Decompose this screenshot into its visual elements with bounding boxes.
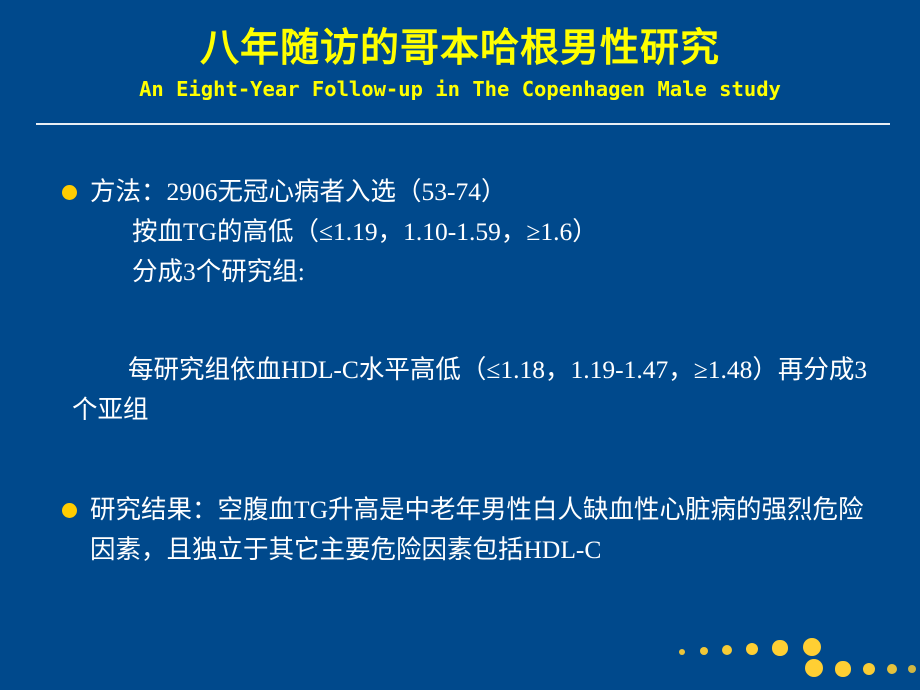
decorative-dot	[772, 640, 787, 655]
method-line-2: 按血TG的高低（≤1.19，1.10-1.59，≥1.6）	[90, 212, 894, 252]
page-title: 八年随访的哥本哈根男性研究	[0, 26, 920, 72]
decorative-dot	[863, 663, 875, 675]
bullet-dot-icon	[62, 185, 77, 200]
decorative-dot-wave	[666, 628, 920, 684]
bullet-item-method: 方法：2906无冠心病者入选（53-74） 按血TG的高低（≤1.19，1.10…	[0, 172, 920, 292]
decorative-dot	[700, 647, 708, 655]
page-subtitle: An Eight-Year Follow-up in The Copenhage…	[0, 76, 920, 102]
method-line-1: 方法：2906无冠心病者入选（53-74）	[90, 172, 894, 212]
bullet-item-result: 研究结果：空腹血TG升高是中老年男性白人缺血性心脏病的强烈危险因素，且独立于其它…	[0, 490, 920, 570]
slide-title-block: 八年随访的哥本哈根男性研究 An Eight-Year Follow-up in…	[0, 26, 920, 102]
bullet-dot-icon	[62, 503, 77, 518]
slide-body: 方法：2906无冠心病者入选（53-74） 按血TG的高低（≤1.19，1.10…	[0, 172, 920, 570]
presentation-slide: 八年随访的哥本哈根男性研究 An Eight-Year Follow-up in…	[0, 0, 920, 690]
decorative-dot	[835, 661, 850, 676]
subgroup-paragraph-block: 每研究组依血HDL-C水平高低（≤1.18，1.19-1.47，≥1.48）再分…	[0, 350, 920, 430]
decorative-dot	[679, 649, 685, 655]
decorative-dot	[908, 665, 916, 673]
decorative-dot	[805, 659, 824, 678]
title-divider	[36, 123, 890, 125]
decorative-dot	[887, 664, 897, 674]
subgroup-paragraph: 每研究组依血HDL-C水平高低（≤1.18，1.19-1.47，≥1.48）再分…	[72, 350, 888, 430]
decorative-dot	[722, 645, 732, 655]
result-paragraph: 研究结果：空腹血TG升高是中老年男性白人缺血性心脏病的强烈危险因素，且独立于其它…	[90, 490, 894, 570]
decorative-dot	[746, 643, 758, 655]
method-line-3: 分成3个研究组:	[90, 252, 894, 292]
decorative-dot	[803, 638, 822, 657]
